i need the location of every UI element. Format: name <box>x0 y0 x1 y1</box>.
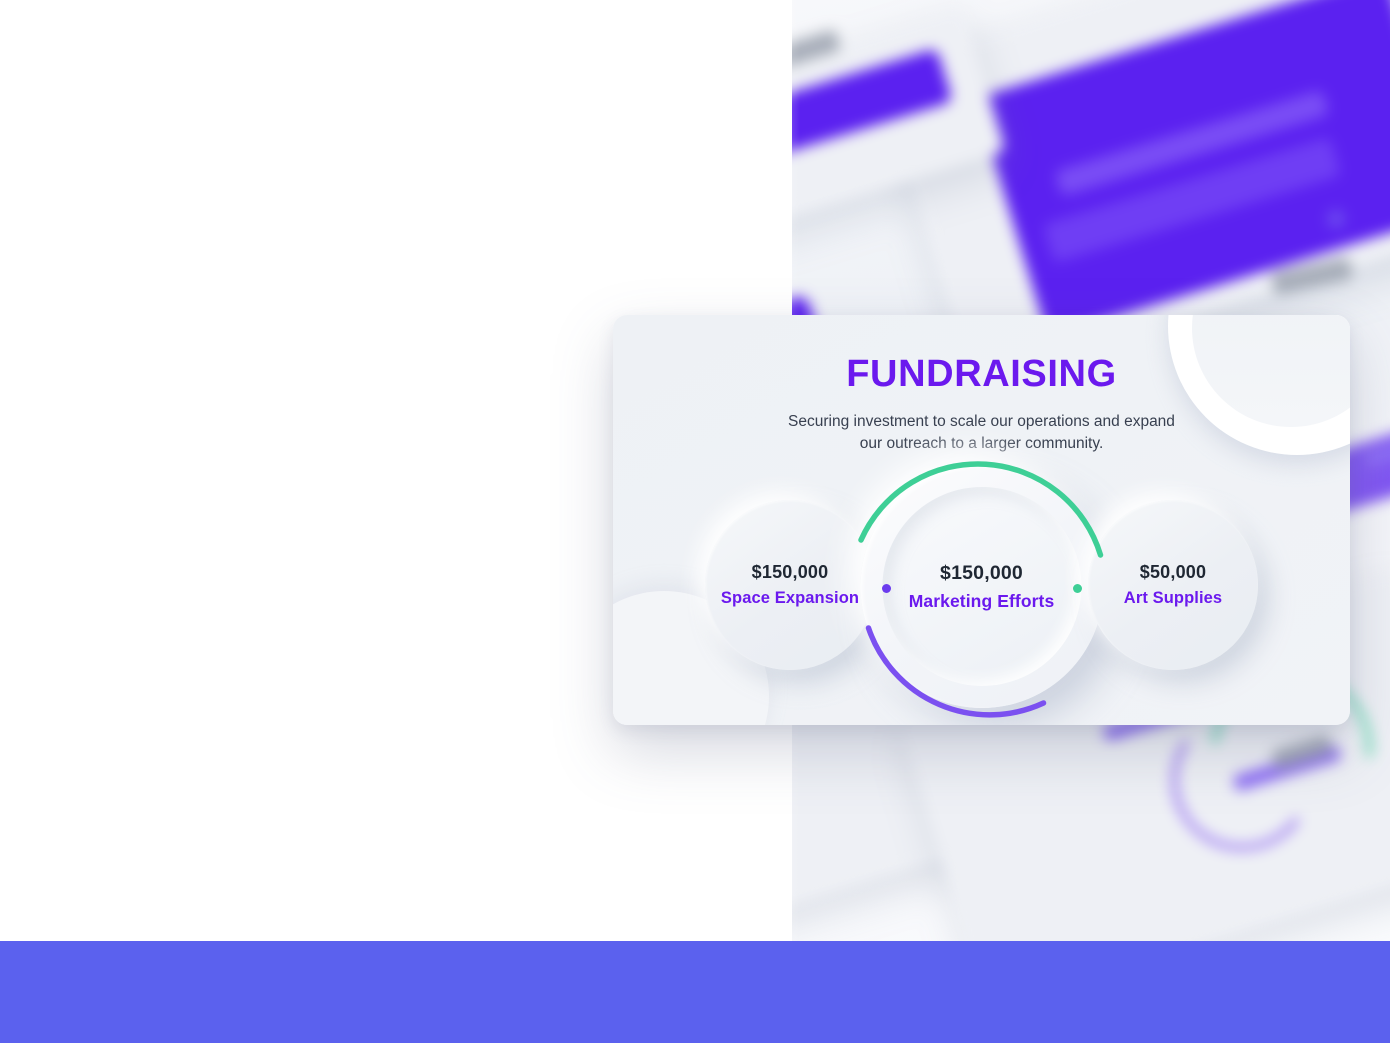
brand-text: FINMODELSLAB Templates <box>179 74 542 154</box>
funding-items-group: $150,000 Space Expansion $150,000 Market… <box>613 465 1350 715</box>
grid-logo-icon <box>56 62 161 167</box>
grid-square-3 <box>89 117 107 135</box>
brand-name-wrap: FINMODELSLAB <box>179 74 542 121</box>
funding-label: Art Supplies <box>1124 589 1222 608</box>
card-title: FUNDRAISING <box>613 353 1350 396</box>
grid-logo-squares <box>83 89 135 141</box>
center-bubble-inset <box>882 487 1081 686</box>
funding-amount: $50,000 <box>1140 562 1206 583</box>
funding-item-marketing-efforts[interactable]: $150,000 Marketing Efforts <box>860 465 1103 708</box>
body-copy: Specify the amount of funding you are se… <box>54 404 574 734</box>
card-subtitle: Securing investment to scale our operati… <box>782 411 1182 455</box>
slide-root: FUNDRAISING Securing investment to scale… <box>0 0 1390 1043</box>
connector-dot-left <box>882 584 891 593</box>
brand-logo[interactable]: FINMODELSLAB Templates <box>56 62 542 167</box>
grid-square-1 <box>89 95 107 113</box>
funding-label: Space Expansion <box>721 589 859 608</box>
connector-dot-right <box>1073 584 1082 593</box>
paragraph-1: Specify the amount of funding you are se… <box>54 404 574 550</box>
paragraph-2: Include a roadmap with key milestones an… <box>54 587 574 733</box>
funding-item-art-supplies[interactable]: $50,000 Art Supplies <box>1088 500 1258 670</box>
brand-name: FINMODELSLAB <box>179 71 542 122</box>
funding-amount: $150,000 <box>752 562 829 583</box>
page-title: Fundraising <box>54 296 461 368</box>
grid-square-4 <box>111 117 129 135</box>
funding-label: Marketing Efforts <box>909 591 1055 612</box>
brand-tagline: Templates <box>179 122 542 155</box>
footer-bar <box>0 941 1390 1043</box>
funding-amount: $150,000 <box>940 562 1023 585</box>
bg-dot-1 <box>1327 210 1345 228</box>
funding-item-space-expansion[interactable]: $150,000 Space Expansion <box>705 500 875 670</box>
fundraising-preview-card[interactable]: FUNDRAISING Securing investment to scale… <box>613 315 1350 725</box>
map-pin-icon <box>300 66 311 100</box>
grid-square-2 <box>111 95 129 113</box>
